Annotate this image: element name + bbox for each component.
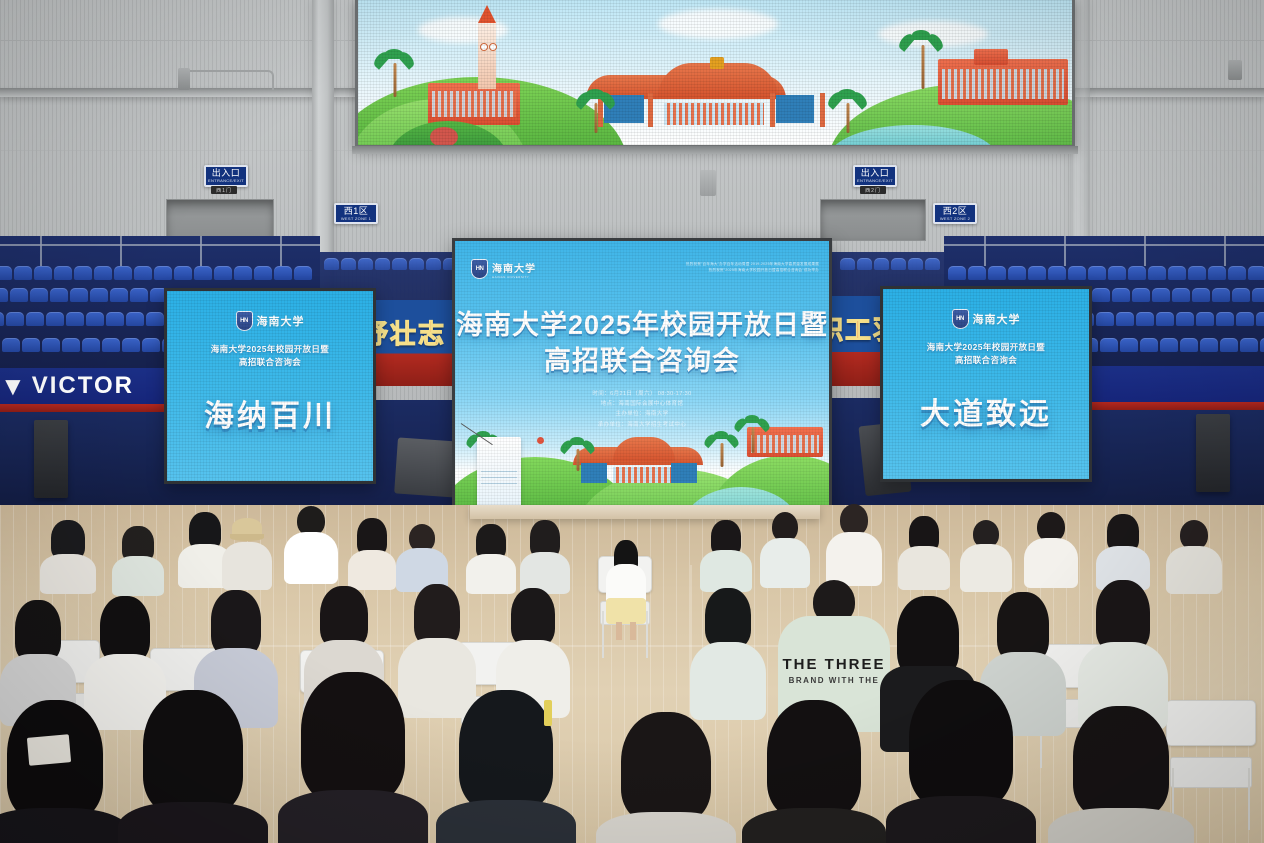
audience-person [690,588,766,718]
palm-tree [906,33,940,89]
audience-person [466,524,516,590]
hainan-university-crest-icon: HN [236,311,253,331]
sign-zone-west2: 西2区 WEST ZONE 2 [933,203,977,224]
main-screen-logo-en: HAINAN UNIVERSITY [492,275,536,279]
right-banner-logo: HN 海南大学 [883,309,1089,329]
audience-person-with-cap [222,518,272,588]
sign-exit-left-sub: 西1门 [211,186,237,194]
right-banner-subtitle-line1: 海南大学2025年校园开放日暨 [883,341,1089,354]
campus-building-right-windows [942,69,1064,99]
right-banner-subtitle: 海南大学2025年校园开放日暨 高招联合咨询会 [883,341,1089,367]
right-banner-subtitle-line2: 高招联合咨询会 [883,354,1089,367]
top-led-banner [355,0,1075,148]
main-screen-logo-name: 海南大学 HAINAN UNIVERSITY [492,260,536,279]
victor-banner-left-text: VICTOR [32,372,134,400]
sign-zone-west1-cn: 西1区 [344,207,369,216]
foreground-person [886,680,1036,843]
audience-person [826,504,882,586]
sign-zone-west2-cn: 西2区 [943,207,968,216]
foreground-person [436,690,576,843]
left-banner-logo: HN 海南大学 [167,311,373,331]
speaker-stack-left [34,420,68,498]
speaker-stack-right [1196,414,1230,492]
sign-exit-right-cn: 出入口 [861,169,890,178]
led-banner-base [352,146,1078,154]
main-screen-top-strap: 热烈祝贺"百年海大"办学百年活动周暨 2019-2025年海南大学高质量发展成果… [569,261,819,273]
seat-row [324,258,458,270]
foreground-person [118,690,268,843]
audience-person [520,520,570,590]
main-screen-meta-host: 主办单位：海南大学 [455,409,829,419]
sign-zone-west1: 西1区 WEST ZONE 1 [334,203,378,224]
foreground-person [742,700,886,843]
water-bottle [544,700,552,726]
palm-tree [834,91,862,133]
screen-gate-glass-right [671,463,697,483]
left-banner-subtitle: 海南大学2025年校园开放日暨 高招联合咨询会 [167,343,373,369]
decor-ball [430,127,458,145]
screen-mascot-dot [537,437,544,444]
doorway-right [820,199,926,241]
audience-person [112,526,164,592]
campus-gate-crest [710,57,724,69]
clock-tower-roof [478,5,496,23]
audience-person [396,524,448,590]
cloud [658,9,778,39]
audience-person [284,506,338,584]
palm-tree [711,433,733,467]
left-banner-logo-name: 海南大学 [257,313,305,329]
audience-person [760,512,810,588]
wall-light-fixture-left [178,68,190,90]
palm-tree [582,91,610,133]
foreground-person [278,672,428,843]
left-banner-screen: HN 海南大学 海南大学2025年校园开放日暨 高招联合咨询会 海纳百川 [164,288,376,484]
foreground-person [0,700,130,843]
gate-column [770,93,775,127]
gymnasium-scene: 出入口 ENTRANCE/EXIT 西1门 出入口 ENTRANCE/EXIT … [0,0,1264,843]
audience-person [40,520,96,590]
main-screen-logo: HN 海南大学 HAINAN UNIVERSITY [471,259,536,279]
hainan-university-crest-icon: HN [471,259,488,279]
audience-person [1096,514,1150,588]
sign-exit-right-en: ENTRANCE/EXIT [857,179,893,183]
left-banner-screen-display: HN 海南大学 海南大学2025年校园开放日暨 高招联合咨询会 海纳百川 [167,291,373,481]
gate-glass-right [776,95,814,123]
wall-conduit-left [190,70,274,90]
foreground-person [1048,706,1194,843]
right-banner-logo-name: 海南大学 [973,311,1021,327]
screen-campus-gate-center [613,437,675,461]
victor-bird-logo-icon: ▼ [0,373,26,399]
screen-poster-card [477,437,521,511]
paper-leaflet [27,734,71,766]
audience-person [1166,520,1222,592]
campus-building-right-top [974,49,1008,65]
sign-exit-left-en: ENTRANCE/EXIT [208,179,244,183]
main-screen-strap-line2: 热烈祝贺"2025年海南大学校园开放日暨高招联合咨询会"成功举办 [569,267,819,273]
seated-child [604,540,648,644]
clock-tower [478,21,496,89]
hainan-university-crest-icon: HN [952,309,969,329]
clock-face-2 [489,43,497,51]
foreground-person [596,712,736,843]
palm-tree [380,51,410,97]
child-skirt [606,598,646,624]
sign-exit-right: 出入口 ENTRANCE/EXIT [853,165,897,187]
audience-person [960,520,1012,590]
screen-gate-windows [613,467,671,483]
top-led-banner-screen [358,0,1072,145]
child-leg [616,622,622,640]
main-screen-meta-time: 时间：6月21日（周六） 08:30-17:30 [455,389,829,399]
audience-person [700,520,752,590]
audience-person [898,516,950,588]
sign-zone-west1-en: WEST ZONE 1 [341,217,371,221]
seat-row [840,258,940,270]
jacket-text-line1: THE THREE [782,656,885,673]
left-banner-subtitle-line1: 海南大学2025年校园开放日暨 [167,343,373,356]
sign-exit-left-cn: 出入口 [212,169,241,178]
campus-building-left-windows [432,91,516,117]
left-banner-slogan: 海纳百川 [167,391,373,435]
sign-exit-left: 出入口 ENTRANCE/EXIT [204,165,248,187]
main-screen-meta-place: 地点：海南国际会展中心体育馆 [455,399,829,409]
gate-column [820,93,825,127]
palm-tree [741,417,765,453]
right-banner-screen-display: HN 海南大学 海南大学2025年校园开放日暨 高招联合咨询会 大道致远 [883,289,1089,479]
jacket-text-line2: BRAND WITH THE [789,676,880,685]
gate-building-windows [664,103,764,125]
main-screen-title-line1: 海南大学2025年校园开放日暨 [455,303,829,342]
seat-row [948,266,1264,280]
left-banner-subtitle-line2: 高招联合咨询会 [167,356,373,369]
sign-zone-west2-en: WEST ZONE 2 [940,217,970,221]
clock-face [480,43,488,51]
wall-light-fixture-right [1228,60,1242,80]
audience-person [1078,580,1168,726]
right-banner-slogan: 大道致远 [883,389,1089,433]
audience-person [1024,512,1078,588]
main-screen-title-line2: 高招联合咨询会 [455,339,829,378]
gate-column [648,93,653,127]
audience-person [348,518,396,588]
right-banner-screen: HN 海南大学 海南大学2025年校园开放日暨 高招联合咨询会 大道致远 [880,286,1092,482]
sign-exit-right-sub: 西2门 [860,186,886,194]
main-screen-meta: 时间：6月21日（周六） 08:30-17:30 地点：海南国际会展中心体育馆 … [455,389,829,430]
child-leg [630,622,636,640]
wall-box-center [700,170,716,196]
seat-row [0,266,312,280]
palm-tree [567,439,589,471]
